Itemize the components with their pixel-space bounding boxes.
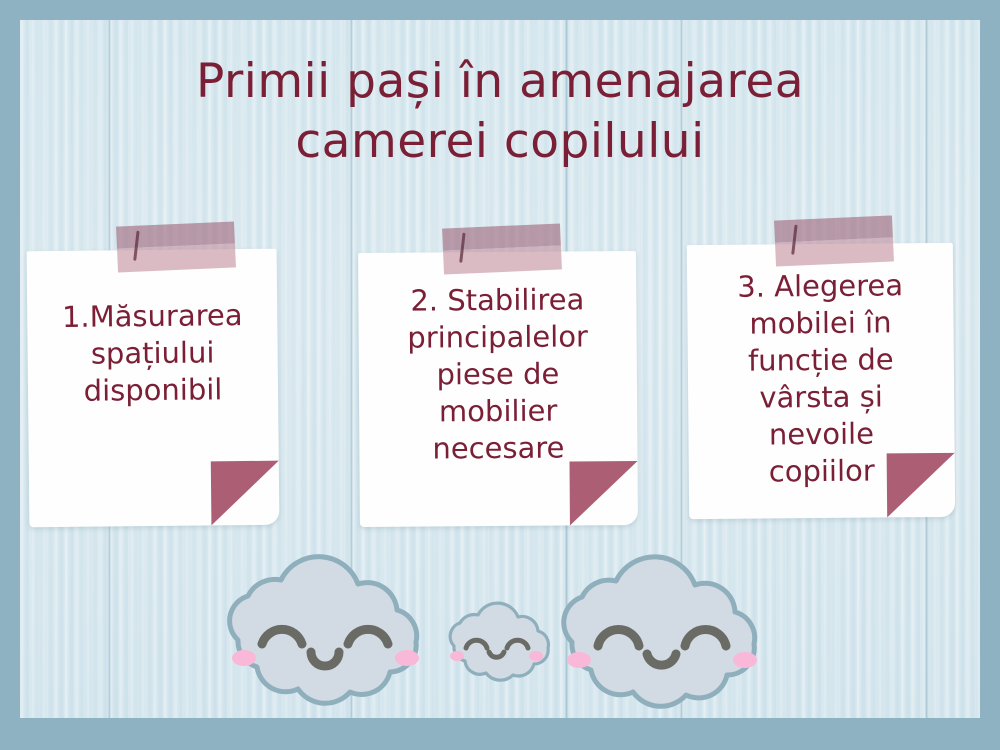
cloud-center (440, 598, 550, 688)
folded-corner (211, 461, 280, 526)
title-line-2: camerei copilului (0, 112, 1000, 172)
blush-left (232, 650, 256, 666)
note-3-line-1: 3. Alegerea (693, 267, 947, 306)
blush-right (529, 651, 543, 661)
washi-tape-2 (442, 223, 562, 274)
frame-border-left (0, 0, 20, 750)
cloud-right (546, 548, 780, 722)
cloud-left-graphic (212, 548, 442, 720)
note-2-line-2: principalelor (365, 318, 631, 357)
sticky-note-1[interactable]: 1.Măsurarea spațiului disponibil (27, 249, 280, 528)
note-2-line-5: necesare (365, 429, 631, 468)
note-3-line-6: copiilor (695, 452, 949, 491)
note-2-text: 2. Stabilirea principalelor piese de mob… (364, 281, 631, 468)
frame-border-bottom (0, 718, 1000, 750)
frame-border-right (980, 0, 1000, 750)
note-3-line-4: vârsta și (694, 378, 948, 417)
folded-corner (570, 461, 638, 525)
note-1-line-1: 1.Măsurarea (33, 297, 271, 336)
note-3-text: 3. Alegerea mobilei în funcție de vârsta… (693, 267, 949, 491)
blush-left (567, 652, 591, 668)
note-2-line-3: piese de (365, 355, 631, 394)
sticky-note-3[interactable]: 3. Alegerea mobilei în funcție de vârsta… (687, 243, 955, 519)
note-2-line-4: mobilier (365, 392, 631, 431)
note-3-line-3: funcție de (694, 341, 948, 380)
blush-right (733, 652, 757, 668)
cloud-left (212, 548, 442, 720)
poster-canvas: Primii pași în amenajarea camerei copilu… (0, 0, 1000, 750)
note-1-line-3: disponibil (34, 371, 272, 410)
note-3-line-2: mobilei în (693, 304, 947, 343)
blush-right (395, 650, 419, 666)
cloud-right-graphic (546, 548, 780, 722)
washi-tape-3 (774, 215, 894, 266)
blush-left (450, 651, 464, 661)
sticky-note-2[interactable]: 2. Stabilirea principalelor piese de mob… (358, 251, 638, 527)
cloud-center-graphic (440, 598, 550, 688)
note-1-line-2: spațiului (33, 334, 271, 373)
frame-border-top (0, 0, 1000, 20)
title-line-1: Primii pași în amenajarea (0, 52, 1000, 112)
note-2-line-1: 2. Stabilirea (364, 281, 630, 320)
note-3-line-5: nevoile (694, 415, 948, 454)
washi-tape-1 (116, 221, 236, 272)
note-1-text: 1.Măsurarea spațiului disponibil (33, 297, 272, 410)
poster-title: Primii pași în amenajarea camerei copilu… (0, 52, 1000, 172)
